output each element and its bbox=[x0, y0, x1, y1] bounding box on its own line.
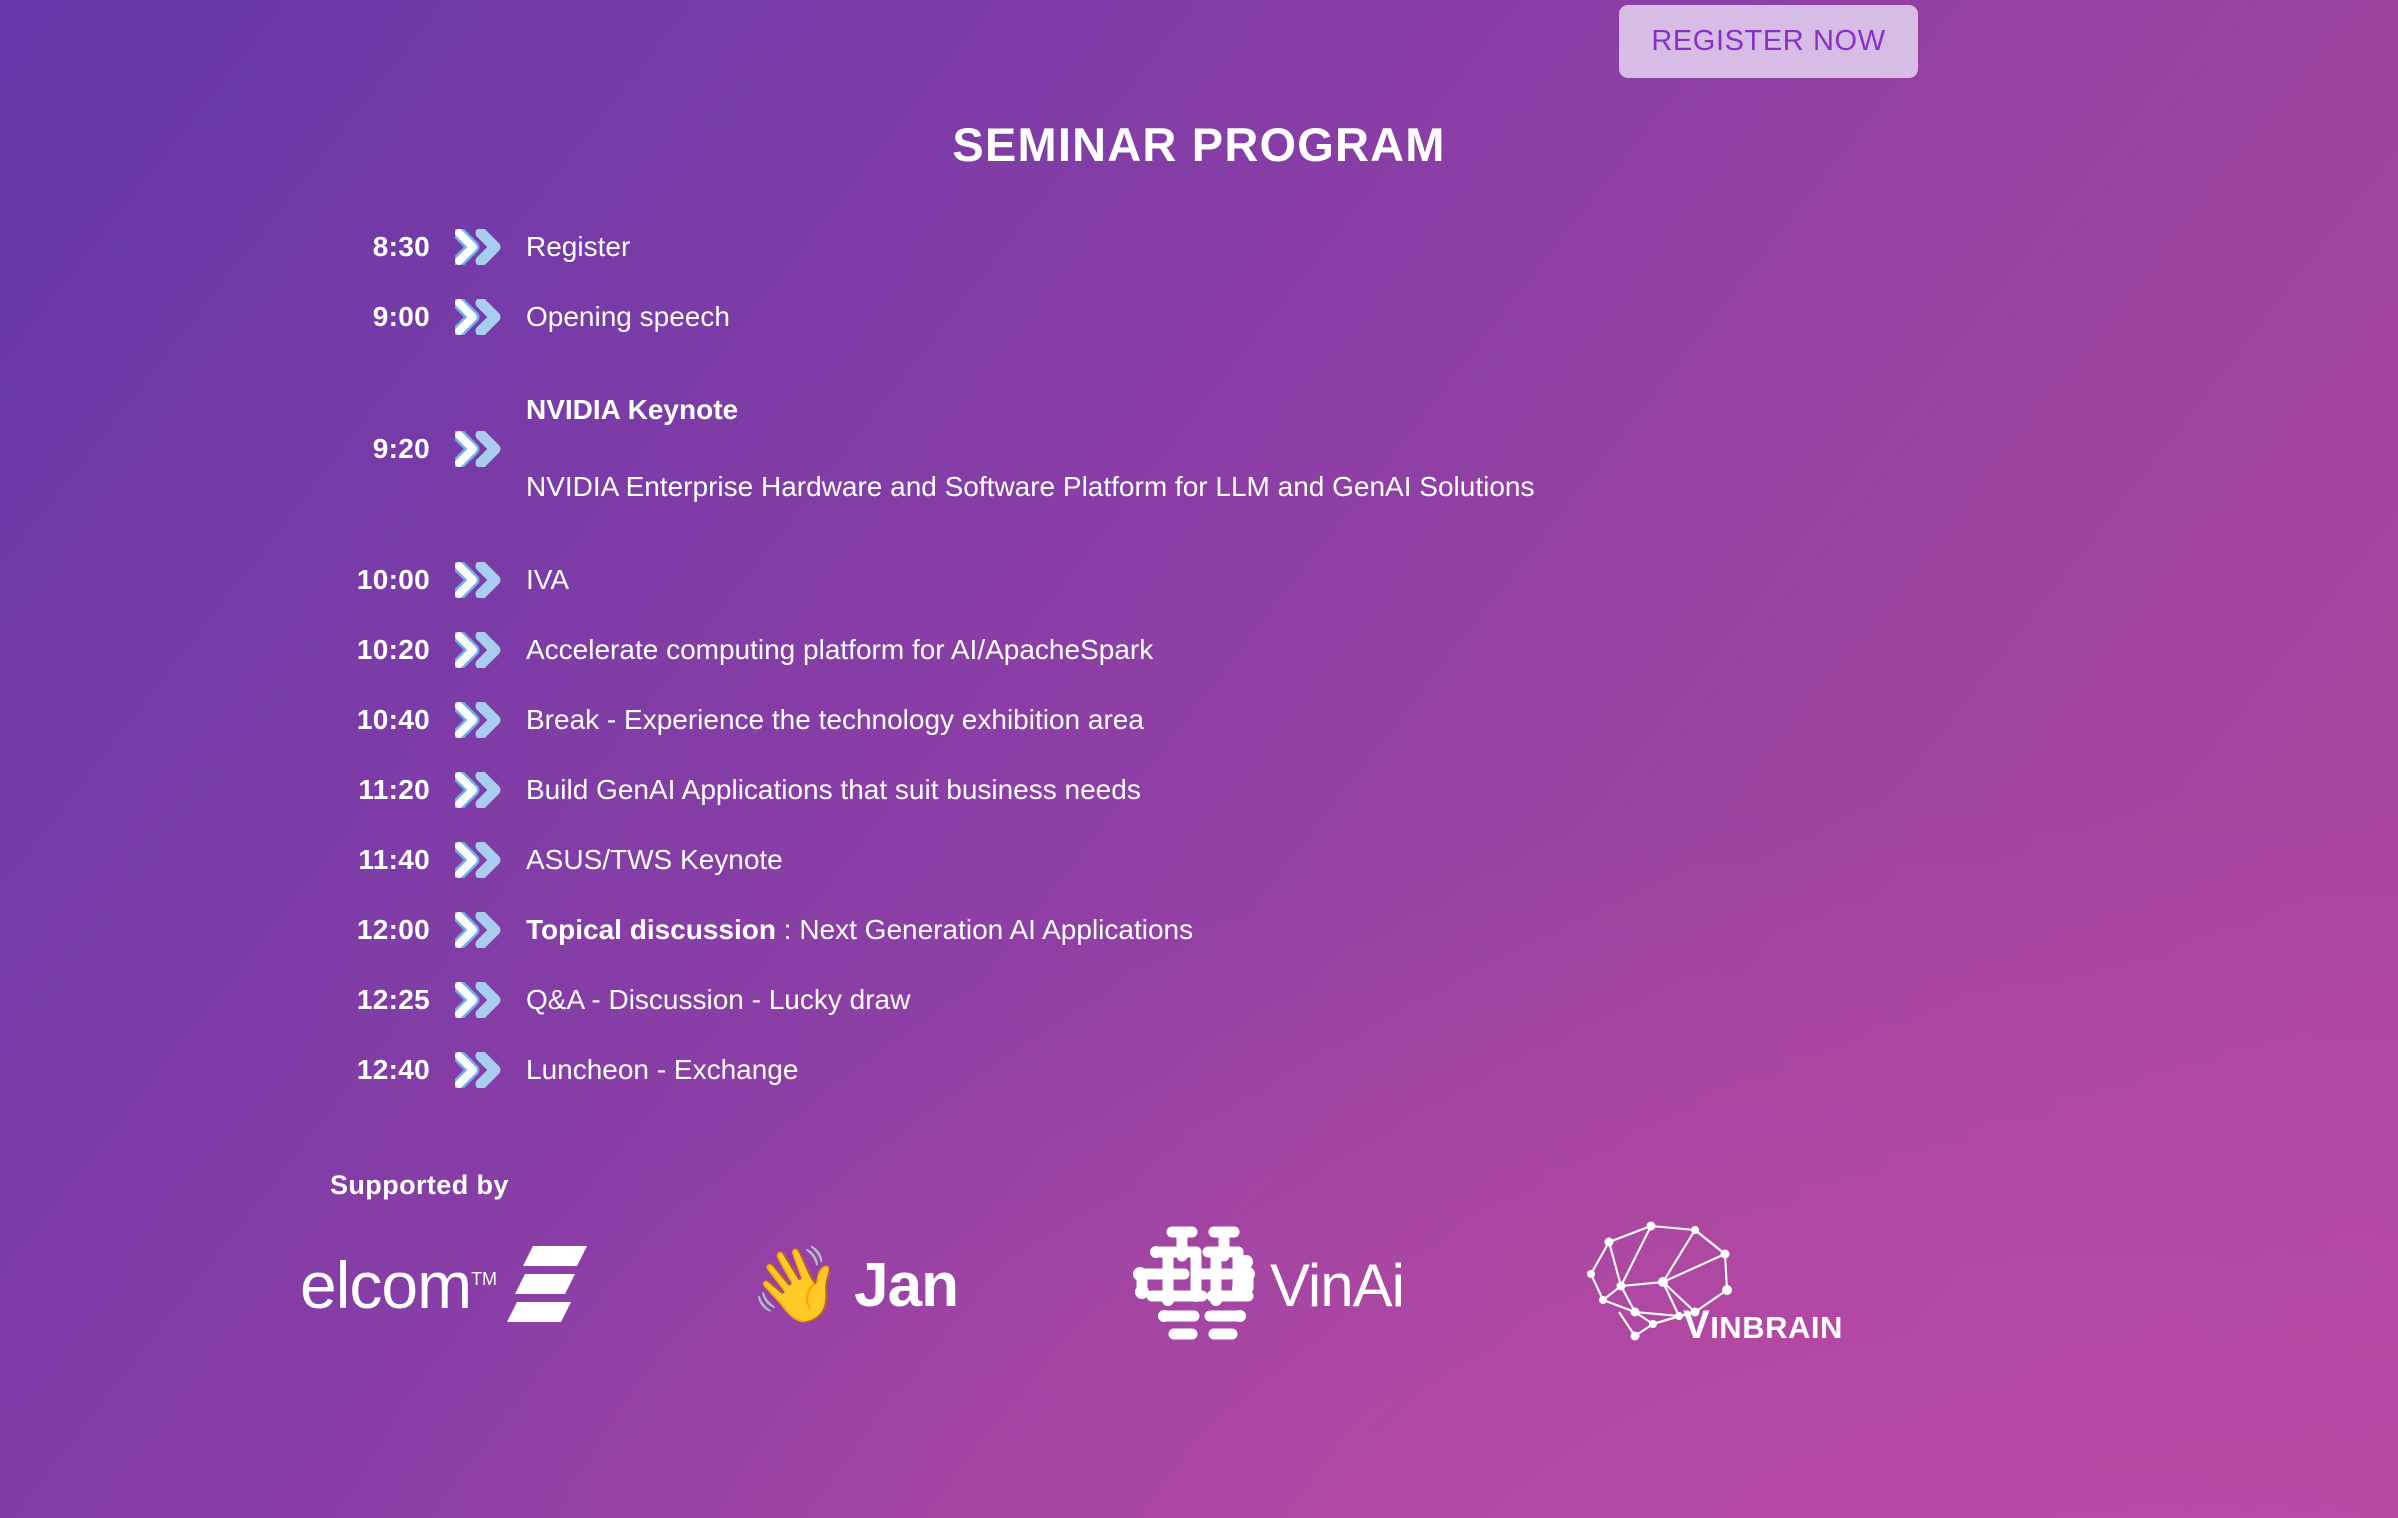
elcom-e-symbol-icon bbox=[503, 1244, 589, 1327]
agenda-text: IVA bbox=[526, 561, 2398, 600]
logo-elcom: elcomTM bbox=[300, 1220, 680, 1350]
double-chevron-icon bbox=[430, 562, 526, 598]
agenda-text: Accelerate computing platform for AI/Apa… bbox=[526, 631, 2398, 670]
logo-jan: 👋 Jan bbox=[680, 1220, 1100, 1350]
double-chevron-icon bbox=[430, 632, 526, 668]
agenda-text-title: NVIDIA Keynote bbox=[526, 391, 2398, 430]
sponsor-logo-strip: elcomTM 👋 Jan bbox=[300, 1210, 2150, 1360]
agenda-text: Q&A - Discussion - Lucky draw bbox=[526, 981, 2398, 1020]
double-chevron-icon bbox=[430, 772, 526, 808]
agenda-row: 9:00 Opening speech bbox=[0, 282, 2398, 352]
page-title: SEMINAR PROGRAM bbox=[0, 117, 2398, 172]
double-chevron-icon bbox=[430, 431, 526, 467]
agenda-text: Build GenAI Applications that suit busin… bbox=[526, 771, 2398, 810]
elcom-text: elcom bbox=[300, 1248, 471, 1322]
agenda-time: 10:00 bbox=[0, 564, 430, 596]
agenda-time: 10:20 bbox=[0, 634, 430, 666]
agenda-row: 11:20 Build GenAI Applications that suit… bbox=[0, 755, 2398, 825]
vinbrain-text-rest: INBRAIN bbox=[1710, 1310, 1843, 1345]
agenda-row: 10:40 Break - Experience the technology … bbox=[0, 685, 2398, 755]
double-chevron-icon bbox=[430, 299, 526, 335]
agenda-text-rest: : Next Generation AI Applications bbox=[776, 914, 1193, 945]
elcom-wordmark: elcomTM bbox=[300, 1247, 497, 1323]
agenda-text: Register bbox=[526, 228, 2398, 267]
agenda-text: ASUS/TWS Keynote bbox=[526, 841, 2398, 880]
agenda-time: 9:00 bbox=[0, 301, 430, 333]
agenda-row: 12:00 Topical discussion : Next Generati… bbox=[0, 895, 2398, 965]
double-chevron-icon bbox=[430, 1052, 526, 1088]
vinbrain-wordmark: VINBRAIN bbox=[1683, 1303, 1843, 1348]
waving-hand-icon: 👋 bbox=[750, 1248, 842, 1322]
agenda-text: Topical discussion : Next Generation AI … bbox=[526, 911, 2398, 950]
agenda-time: 11:20 bbox=[0, 774, 430, 806]
supported-by-label: Supported by bbox=[330, 1170, 509, 1201]
register-button-container: REGISTER NOW bbox=[1619, 5, 1918, 78]
double-chevron-icon bbox=[430, 702, 526, 738]
agenda-row: 10:20 Accelerate computing platform for … bbox=[0, 615, 2398, 685]
agenda-time: 12:25 bbox=[0, 984, 430, 1016]
double-chevron-icon bbox=[430, 912, 526, 948]
seminar-agenda-list: 8:30 Register 9:00 Opening speech 9:20 bbox=[0, 212, 2398, 1105]
agenda-text: Luncheon - Exchange bbox=[526, 1051, 2398, 1090]
vinbrain-text-v: V bbox=[1683, 1303, 1710, 1347]
agenda-row: 9:20 NVIDIA Keynote NVIDIA Enterprise Ha… bbox=[0, 352, 2398, 545]
agenda-time: 8:30 bbox=[0, 231, 430, 263]
agenda-text: Opening speech bbox=[526, 298, 2398, 337]
agenda-row: 8:30 Register bbox=[0, 212, 2398, 282]
agenda-text-bold-prefix: Topical discussion bbox=[526, 914, 776, 945]
agenda-time: 12:00 bbox=[0, 914, 430, 946]
agenda-text-subtitle: NVIDIA Enterprise Hardware and Software … bbox=[526, 468, 2398, 507]
agenda-row: 11:40 ASUS/TWS Keynote bbox=[0, 825, 2398, 895]
agenda-time: 9:20 bbox=[0, 433, 430, 465]
double-chevron-icon bbox=[430, 842, 526, 878]
agenda-row: 12:40 Luncheon - Exchange bbox=[0, 1035, 2398, 1105]
agenda-time: 12:40 bbox=[0, 1054, 430, 1086]
vinai-circuit-icon bbox=[1130, 1222, 1260, 1349]
logo-vinai: VinAi bbox=[1100, 1220, 1530, 1350]
agenda-time: 11:40 bbox=[0, 844, 430, 876]
elcom-tm-mark: TM bbox=[471, 1269, 497, 1289]
double-chevron-icon bbox=[430, 982, 526, 1018]
agenda-row: 10:00 IVA bbox=[0, 545, 2398, 615]
agenda-row: 12:25 Q&A - Discussion - Lucky draw bbox=[0, 965, 2398, 1035]
register-now-button[interactable]: REGISTER NOW bbox=[1619, 5, 1918, 78]
agenda-time: 10:40 bbox=[0, 704, 430, 736]
agenda-text: NVIDIA Keynote NVIDIA Enterprise Hardwar… bbox=[526, 352, 2398, 545]
double-chevron-icon bbox=[430, 229, 526, 265]
vinai-wordmark: VinAi bbox=[1270, 1251, 1404, 1320]
agenda-text: Break - Experience the technology exhibi… bbox=[526, 701, 2398, 740]
logo-vinbrain: VINBRAIN bbox=[1530, 1220, 1960, 1350]
jan-wordmark: Jan bbox=[854, 1250, 958, 1321]
